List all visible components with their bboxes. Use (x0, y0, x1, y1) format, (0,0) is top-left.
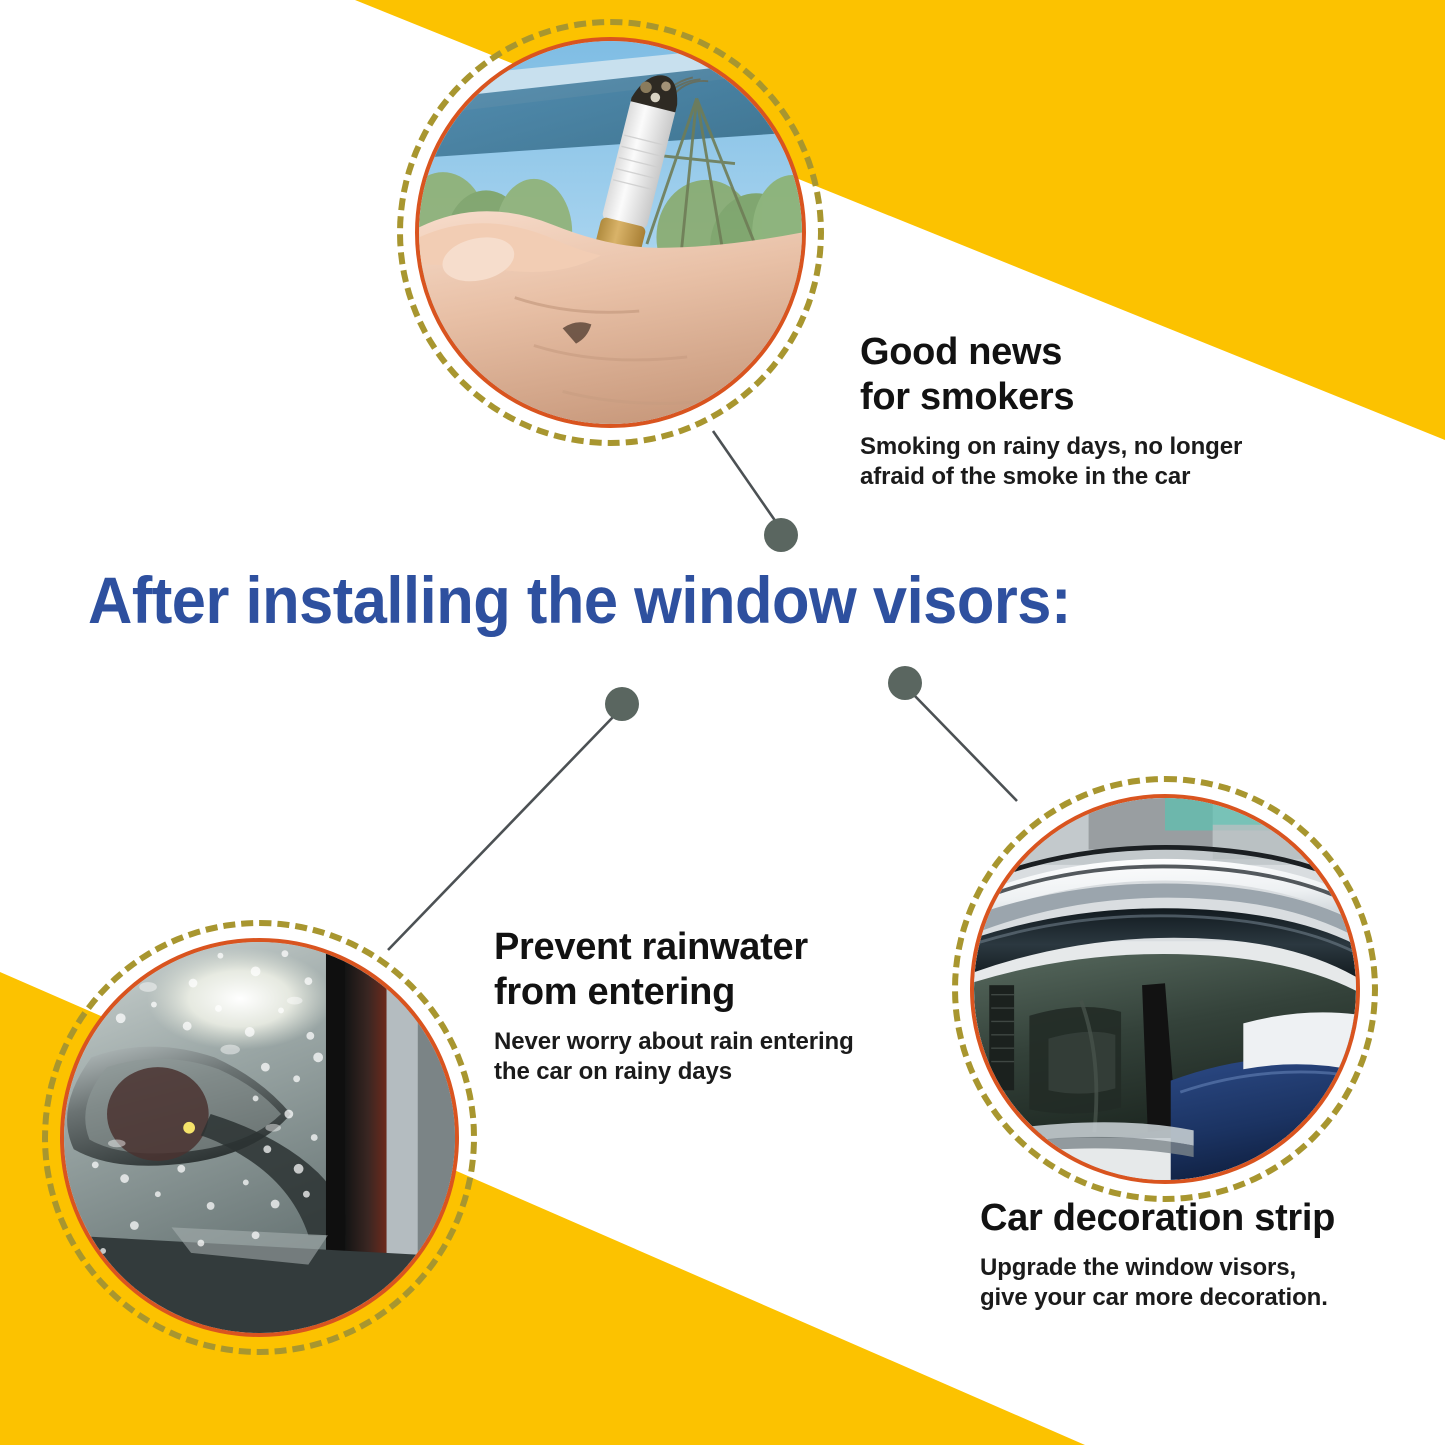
callout-smokers-body: Smoking on rainy days, no longer afraid … (860, 432, 1330, 493)
medallion-smokers (397, 19, 824, 446)
medallion-rain (42, 920, 477, 1355)
callout-decoration-body: Upgrade the window visors, give your car… (980, 1253, 1430, 1314)
leader-line-smokers (713, 431, 776, 522)
page-title: After installing the window visors: (88, 566, 1297, 635)
medallion-rain-dashed-ring (42, 920, 477, 1355)
callout-good-news-for-smokers: Good news for smokers Smoking on rainy d… (860, 330, 1330, 493)
callout-prevent-rainwater: Prevent rainwater from entering Never wo… (494, 925, 924, 1088)
callout-smokers-title: Good news for smokers (860, 330, 1330, 420)
connector-dot-smokers (764, 518, 798, 552)
leader-line-rain (388, 716, 614, 950)
connector-dot-decoration (888, 666, 922, 700)
leader-line-decoration (913, 694, 1017, 801)
connector-dot-rain (605, 687, 639, 721)
callout-car-decoration-strip: Car decoration strip Upgrade the window … (980, 1196, 1430, 1314)
medallion-smokers-dashed-ring (397, 19, 824, 446)
infographic-canvas: After installing the window visors: Good… (0, 0, 1445, 1445)
medallion-decoration (952, 776, 1378, 1202)
medallion-decoration-dashed-ring (952, 776, 1378, 1202)
callout-decoration-title: Car decoration strip (980, 1196, 1430, 1241)
callout-rain-title: Prevent rainwater from entering (494, 925, 924, 1015)
callout-rain-body: Never worry about rain entering the car … (494, 1027, 924, 1088)
